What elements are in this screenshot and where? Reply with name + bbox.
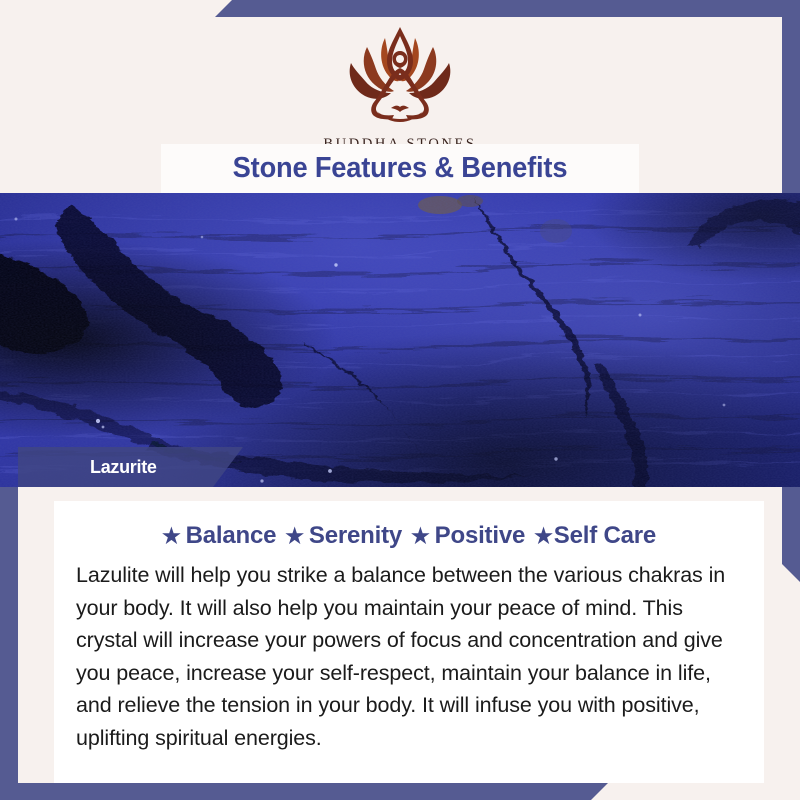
star-icon: ★ — [162, 526, 181, 547]
brand-logo: BUDDHA STONES — [323, 23, 476, 153]
benefit-item-serenity: ★ Serenity — [285, 522, 402, 550]
star-icon: ★ — [411, 526, 430, 547]
frame-band-top — [215, 0, 800, 17]
stone-name-banner: Lazurite — [18, 447, 243, 487]
stone-name-label: Lazurite — [90, 457, 157, 478]
frame-band-right-lower — [782, 487, 800, 582]
content-panel: ★ Balance ★ Serenity ★ Positive ★ Self C… — [18, 487, 782, 783]
content-card: ★ Balance ★ Serenity ★ Positive ★ Self C… — [54, 501, 764, 783]
benefit-item-balance: ★ Balance — [162, 522, 276, 550]
title-plate: Stone Features & Benefits — [161, 144, 639, 193]
stone-features-infographic: BUDDHA STONES Stone Features & Benefits — [0, 0, 800, 800]
benefit-item-self-care: ★ Self Care — [534, 522, 656, 550]
benefit-label: Self Care — [554, 522, 656, 550]
lazurite-rock-photo — [0, 193, 800, 487]
star-icon: ★ — [285, 526, 304, 547]
lotus-meditation-figure-icon — [325, 23, 475, 132]
frame-band-left — [0, 487, 18, 790]
benefit-item-positive: ★ Positive — [411, 522, 525, 550]
benefit-label: Balance — [186, 522, 277, 550]
star-icon: ★ — [534, 526, 553, 547]
page-title: Stone Features & Benefits — [233, 152, 568, 185]
frame-band-right-upper — [782, 0, 800, 193]
stone-description: Lazulite will help you strike a balance … — [76, 559, 740, 754]
benefits-row: ★ Balance ★ Serenity ★ Positive ★ Self C… — [54, 522, 764, 550]
frame-band-bottom — [0, 783, 608, 800]
benefit-label: Positive — [435, 522, 525, 550]
benefit-label: Serenity — [309, 522, 402, 550]
